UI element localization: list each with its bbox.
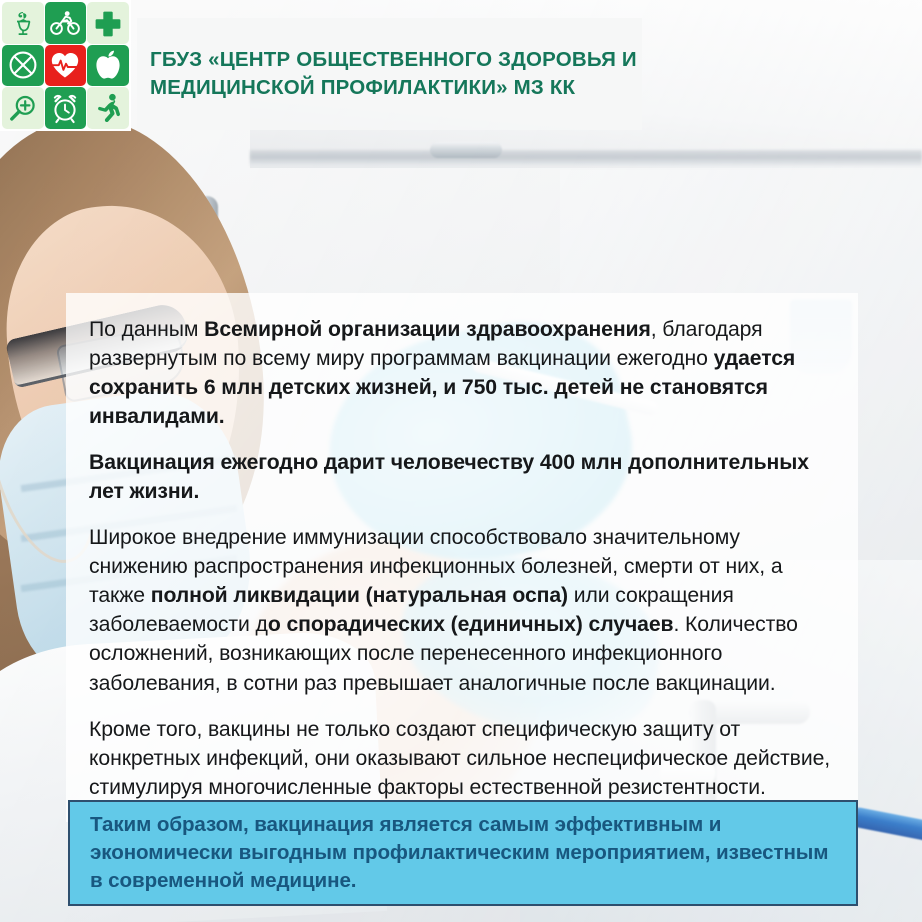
header-banner: ГБУЗ «ЦЕНТР ОБЩЕСТВЕННОГО ЗДОРОВЬЯ И МЕД…	[137, 18, 642, 130]
logo-tile-apple	[87, 45, 129, 87]
paragraph-nonspecific-protection: Кроме того, вакцины не только создают сп…	[89, 715, 832, 802]
logo-tile-runner	[87, 87, 129, 129]
p3-bold-sporadic-cases: о спорадических (единичных) случаев	[268, 613, 674, 636]
poster-root: ГБУЗ «ЦЕНТР ОБЩЕСТВЕННОГО ЗДОРОВЬЯ И МЕД…	[0, 0, 922, 922]
logo-tile-no-smoking	[2, 45, 44, 87]
page-title-line-2: МЕДИЦИНСКОЙ ПРОФИЛАКТИКИ» МЗ КК	[150, 76, 575, 99]
page-title-line-1: ГБУЗ «ЦЕНТР ОБЩЕСТВЕННОГО ЗДОРОВЬЯ И	[150, 48, 637, 71]
logo-tile-medical-cross	[87, 2, 129, 44]
logo-tile-magnifier-plus	[2, 87, 44, 129]
bowl-of-hygieia-icon	[8, 8, 38, 38]
no-smoking-icon	[7, 49, 39, 81]
runner-icon	[93, 92, 123, 124]
organization-logo	[0, 0, 131, 131]
main-text-panel: По данным Всемирной организации здравоох…	[66, 293, 858, 822]
medical-cross-icon	[93, 8, 123, 38]
logo-tile-alarm-clock	[45, 87, 87, 129]
p1-text-part-1: По данным	[89, 318, 204, 341]
page-title: ГБУЗ «ЦЕНТР ОБЩЕСТВЕННОГО ЗДОРОВЬЯ И МЕД…	[150, 46, 637, 101]
conclusion-banner: Таким образом, вакцинация является самым…	[68, 800, 858, 906]
cyclist-icon	[49, 7, 81, 39]
logo-tile-bowl-of-hygieia	[2, 2, 44, 44]
logo-tile-cyclist	[45, 2, 87, 44]
logo-tile-heart-ecg	[45, 45, 87, 87]
alarm-clock-icon	[49, 92, 81, 124]
magnifier-plus-icon	[8, 93, 38, 123]
conclusion-text: Таким образом, вакцинация является самым…	[90, 811, 836, 895]
paragraph-immunization-impact: Широкое внедрение иммунизации способство…	[89, 523, 832, 697]
paragraph-extra-life-years: Вакцинация ежегодно дарит человечеству 4…	[89, 448, 832, 506]
heart-ecg-icon	[49, 50, 81, 80]
p3-bold-smallpox: полной ликвидации (натуральная оспа)	[151, 584, 568, 607]
apple-icon	[93, 49, 123, 81]
p1-bold-who: Всемирной организации здравоохранения	[204, 318, 651, 341]
paragraph-who-statistics: По данным Всемирной организации здравоох…	[89, 315, 832, 431]
